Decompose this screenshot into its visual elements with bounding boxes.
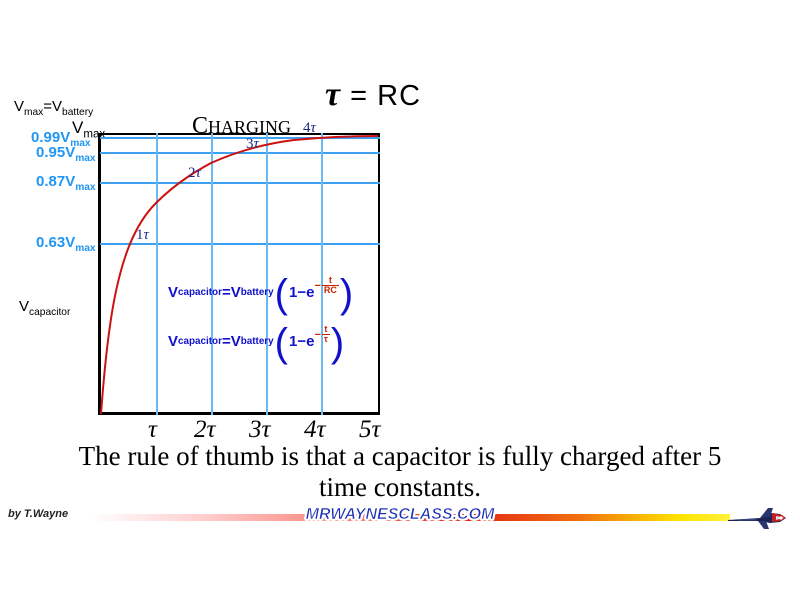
curve-marker-2tau: 2τ: [188, 165, 201, 182]
eq1-exponent-fraction: tRC: [322, 276, 339, 296]
charging-curve: [100, 133, 380, 415]
rule-of-thumb-line2: time constants.: [0, 472, 800, 503]
eq2-e: e: [306, 333, 314, 350]
eq1-exp-sign: −: [314, 280, 320, 292]
eq2-rhs-sub: battery: [241, 336, 274, 347]
eq1-lhs: V: [168, 284, 178, 301]
vcap-label-v: V: [19, 298, 29, 315]
curve-path: [101, 136, 378, 414]
jet-icon: [720, 502, 792, 534]
y-tick-063-sub: max: [75, 243, 95, 254]
y-tick-087-value: 0.87V: [36, 173, 75, 190]
capacitor-voltage-equation-tau: Vcapacitor = Vbattery(1−e−tτ): [168, 332, 345, 352]
capacitor-voltage-equation-rc: Vcapacitor = Vbattery(1−e−tRC): [168, 283, 354, 303]
x-tick-4tau-text: 4τ: [304, 416, 325, 443]
x-tick-label-3tau: 3τ: [249, 416, 270, 444]
equals-v: =V: [43, 98, 62, 115]
marker-4tau-tau: τ: [311, 120, 316, 136]
eq1-rhs: V: [231, 284, 241, 301]
marker-1tau-tau: τ: [144, 227, 149, 243]
eq1-exp-num: t: [327, 276, 334, 285]
eq1-e: e: [306, 284, 314, 301]
eq1-one-minus: 1−: [289, 284, 306, 301]
eq2-rhs: V: [231, 333, 241, 350]
curve-marker-3tau: 3τ: [246, 136, 259, 153]
y-tick-063-value: 0.63V: [36, 234, 75, 251]
slide-canvas: τ = RC Vmax=Vbattery Vmax Vcapacitor 0.9…: [0, 0, 800, 600]
eq1-rhs-sub: battery: [241, 287, 274, 298]
vmax-sub: max: [24, 107, 43, 118]
vmax-equals-vbattery-label: Vmax=Vbattery: [14, 98, 93, 118]
vcap-label-sub: capacitor: [29, 307, 70, 318]
eq2-lhs: V: [168, 333, 178, 350]
curve-marker-1tau: 1τ: [136, 227, 149, 244]
vmax-v: V: [14, 98, 24, 115]
eq1-lhs-sub: capacitor: [178, 287, 222, 298]
marker-4tau-num: 4: [303, 120, 311, 136]
eq2-one-minus: 1−: [289, 333, 306, 350]
author-byline: by T.Wayne: [8, 508, 68, 520]
x-tick-label-5tau: 5τ: [359, 416, 380, 444]
website-url: MRWAYNESCLASS.COM: [306, 506, 495, 524]
x-tick-label-4tau: 4τ: [304, 416, 325, 444]
x-tick-3tau-text: 3τ: [249, 416, 270, 443]
y-tick-label-087: 0.87Vmax: [36, 173, 96, 193]
vcapacitor-axis-label: Vcapacitor: [19, 298, 70, 318]
charging-curve-plot: 1τ 2τ 3τ 4τ: [100, 133, 380, 415]
curve-marker-4tau: 4τ: [303, 120, 316, 137]
x-tick-5tau-text: 5τ: [359, 416, 380, 443]
eq2-exp-den: τ: [322, 335, 330, 344]
y-tick-label-095: 0.95Vmax: [36, 144, 96, 164]
eq1-exp-den: RC: [322, 286, 339, 295]
x-tick-1tau-text: τ: [148, 416, 157, 443]
y-tick-087-sub: max: [75, 182, 95, 193]
x-tick-2tau-text: 2τ: [194, 416, 215, 443]
eq1-equals: =: [222, 284, 231, 301]
marker-2tau-num: 2: [188, 165, 196, 181]
marker-3tau-tau: τ: [254, 136, 259, 152]
vbattery-sub: battery: [62, 107, 93, 118]
rule-of-thumb-text: The rule of thumb is that a capacitor is…: [0, 441, 800, 503]
marker-3tau-num: 3: [246, 136, 254, 152]
eq2-exp-num: t: [322, 325, 329, 334]
footer-banner: by T.Wayne MRWAYNESCLASS.COM: [0, 500, 800, 540]
tau-equals-rc-title: τ = RC: [325, 76, 421, 114]
eq2-exp-sign: −: [314, 329, 320, 341]
y-tick-095-value: 0.95V: [36, 144, 75, 161]
eq2-lhs-sub: capacitor: [178, 336, 222, 347]
equals-rc-text: = RC: [341, 80, 421, 112]
tau-symbol: τ: [325, 76, 341, 113]
marker-2tau-tau: τ: [196, 165, 201, 181]
x-tick-label-1tau: τ: [148, 416, 157, 444]
x-tick-label-2tau: 2τ: [194, 416, 215, 444]
eq2-equals: =: [222, 333, 231, 350]
y-tick-label-063: 0.63Vmax: [36, 234, 96, 254]
eq2-exponent-fraction: tτ: [322, 325, 330, 345]
rule-of-thumb-line1: The rule of thumb is that a capacitor is…: [0, 441, 800, 472]
marker-1tau-num: 1: [136, 227, 144, 243]
y-tick-095-sub: max: [75, 153, 95, 164]
